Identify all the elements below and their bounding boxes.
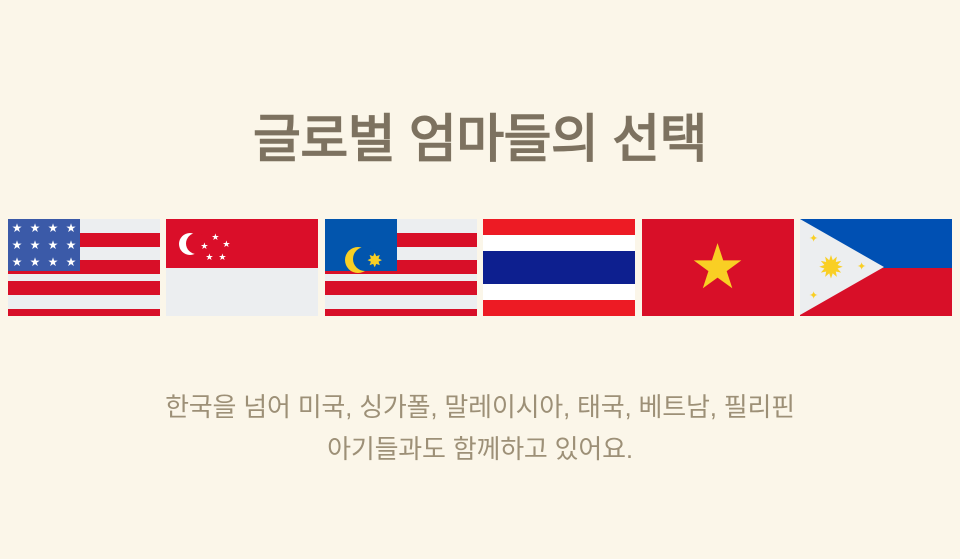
star-icon: ★ <box>30 239 41 251</box>
flag-row: ★ ★ ★ ★ ★ ★ ★ ★ ★ ★ ★ ★ <box>8 219 952 316</box>
flag-vietnam-icon: ★ <box>642 219 794 316</box>
star-icon: ★ <box>218 253 226 262</box>
usa-canton: ★ ★ ★ ★ ★ ★ ★ ★ ★ ★ ★ ★ <box>8 219 80 271</box>
star-icon: ★ <box>222 240 230 249</box>
star-icon: ★ <box>66 256 77 268</box>
star-icon: ✦ <box>809 234 818 245</box>
flag-thailand-icon <box>483 219 635 316</box>
star-icon: ★ <box>211 233 219 242</box>
star-icon: ★ <box>48 256 59 268</box>
promo-banner: 글로벌 엄마들의 선택 ★ ★ ★ ★ ★ ★ ★ ★ ★ ★ <box>0 0 960 559</box>
star-icon: ★ <box>30 256 41 268</box>
star-icon: ★ <box>12 256 23 268</box>
page-title: 글로벌 엄마들의 선택 <box>0 111 960 171</box>
star-icon: ★ <box>48 222 59 234</box>
caption-line-2: 아기들과도 함께하고 있어요. <box>0 428 960 470</box>
sun-icon: ✹ <box>818 252 844 283</box>
star-icon: ✦ <box>809 291 818 302</box>
flag-usa-icon: ★ ★ ★ ★ ★ ★ ★ ★ ★ ★ ★ ★ <box>8 219 160 316</box>
star-icon: ★ <box>12 239 23 251</box>
star-icon: ★ <box>30 222 41 234</box>
star-icon: ★ <box>205 253 213 262</box>
caption: 한국을 넘어 미국, 싱가폴, 말레이시아, 태국, 베트남, 필리핀 아기들과… <box>0 386 960 470</box>
star-icon: ★ <box>200 242 208 251</box>
star-icon: ★ <box>642 237 794 299</box>
flag-malaysia-icon: ✸ <box>325 219 477 316</box>
star-icon: ★ <box>66 222 77 234</box>
star-icon: ★ <box>48 239 59 251</box>
star-icon: ★ <box>12 222 23 234</box>
caption-line-1: 한국을 넘어 미국, 싱가폴, 말레이시아, 태국, 베트남, 필리핀 <box>0 386 960 428</box>
star-icon: ✸ <box>367 252 383 271</box>
flag-philippines-icon: ✹ ✦ ✦ ✦ <box>800 219 952 316</box>
flag-singapore-icon: ★ ★ ★ ★ ★ <box>166 219 318 316</box>
star-icon: ★ <box>66 239 77 251</box>
star-icon: ✦ <box>857 262 866 273</box>
